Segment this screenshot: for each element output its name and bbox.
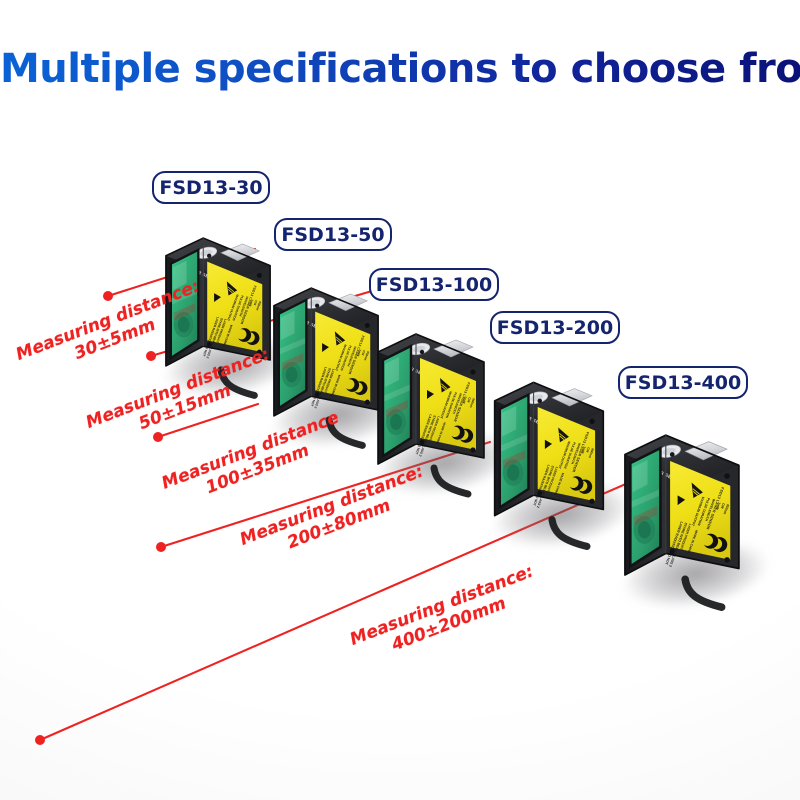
sensor-body: FSD-LASER SENSOR MAXIMUM OUTPUT PULSE DU…: [268, 272, 386, 430]
part-number-label[interactable]: FSD13-200: [490, 311, 620, 344]
infographic-canvas: Multiple specifications to choose from: [0, 0, 800, 800]
leader-line-dot: [103, 291, 113, 301]
part-number-label[interactable]: FSD13-400: [618, 366, 748, 399]
part-number-label[interactable]: FSD13-100: [369, 268, 499, 301]
leader-line-dot: [35, 735, 45, 745]
leader-line-dot: [156, 542, 166, 552]
part-number-text: FSD13-400: [625, 372, 741, 394]
part-number-label[interactable]: FSD13-30: [152, 171, 270, 204]
sensor-fsd13-50: FSD-LASER SENSOR MAXIMUM OUTPUT PULSE DU…: [268, 272, 386, 430]
sensor-fsd13-400: FSD-LASER SENSOR MAXIMUM OUTPUT PULSE DU…: [618, 418, 748, 590]
leader-line-dot: [153, 432, 163, 442]
sensor-fsd13-100: FSD-LASER SENSOR MAXIMUM OUTPUT PULSE DU…: [372, 318, 492, 478]
part-number-label[interactable]: FSD13-50: [274, 218, 392, 251]
sensor-fsd13-200: FSD-LASER SENSOR MAXIMUM OUTPUT PULSE DU…: [488, 366, 612, 530]
part-number-text: FSD13-100: [376, 274, 492, 296]
sensor-body: FSD-LASER SENSOR MAXIMUM OUTPUT PULSE DU…: [488, 366, 612, 530]
sensor-body: FSD-LASER SENSOR MAXIMUM OUTPUT PULSE DU…: [618, 418, 748, 590]
part-number-text: FSD13-30: [159, 177, 262, 199]
part-number-text: FSD13-50: [281, 224, 384, 246]
leader-line-dot: [146, 351, 156, 361]
part-number-text: FSD13-200: [497, 317, 613, 339]
sensor-body: FSD-LASER SENSOR MAXIMUM OUTPUT PULSE DU…: [372, 318, 492, 478]
